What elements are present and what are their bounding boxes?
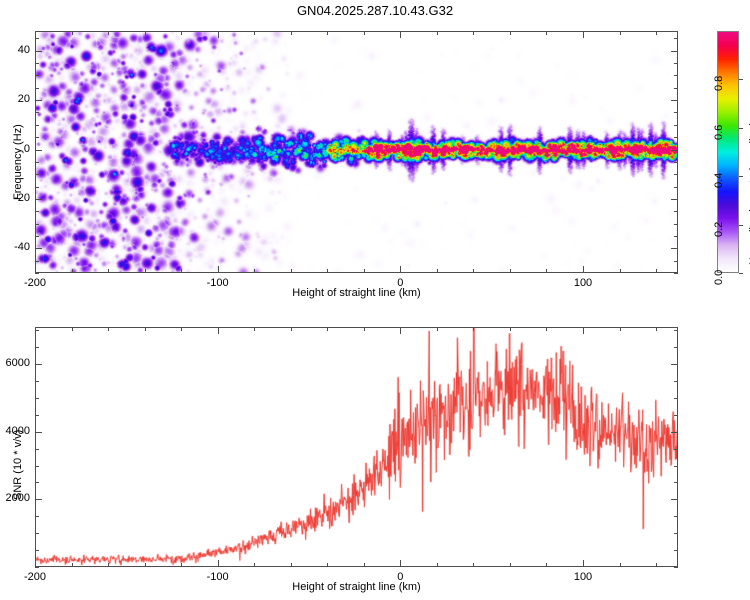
- axis-tick: [35, 162, 39, 163]
- axis-tick-label: 6000: [6, 357, 30, 369]
- axis-tick: [145, 563, 146, 567]
- axis-tick: [674, 466, 678, 467]
- axis-tick: [674, 125, 678, 126]
- axis-tick: [35, 137, 39, 138]
- axis-tick: [656, 327, 657, 331]
- axis-tick: [35, 75, 39, 76]
- axis-tick: [620, 31, 621, 35]
- axis-tick: [108, 563, 109, 567]
- axis-tick: [145, 31, 146, 35]
- axis-tick: [473, 563, 474, 567]
- colorbar-tick: [739, 79, 743, 80]
- axis-tick: [327, 269, 328, 273]
- axis-tick: [656, 31, 657, 35]
- colorbar-tick-label: 0.2: [713, 221, 725, 236]
- figure-root: GN04.2025.287.10.43.G32 -200-10001004020…: [0, 0, 750, 600]
- axis-tick: [674, 224, 678, 225]
- axis-tick: [145, 327, 146, 331]
- axis-tick: [671, 100, 678, 101]
- axis-tick: [674, 330, 678, 331]
- axis-tick: [35, 381, 39, 382]
- axis-tick: [72, 31, 73, 35]
- axis-tick: [364, 327, 365, 331]
- axis-tick: [656, 563, 657, 567]
- snr-panel: [35, 327, 678, 567]
- axis-tick: [583, 266, 584, 273]
- axis-tick: [674, 516, 678, 517]
- axis-tick: [181, 31, 182, 35]
- figure-title: GN04.2025.287.10.43.G32: [0, 3, 750, 18]
- axis-tick: [35, 224, 39, 225]
- axis-tick-label: 40: [18, 44, 30, 56]
- axis-tick: [35, 432, 42, 433]
- snr-ylabel: SNR (10 * v/v): [12, 430, 24, 500]
- axis-tick-label: 0: [24, 143, 30, 155]
- axis-tick: [400, 327, 401, 334]
- axis-tick: [473, 269, 474, 273]
- axis-tick: [72, 327, 73, 331]
- axis-tick: [218, 31, 219, 38]
- axis-tick: [583, 31, 584, 38]
- axis-tick: [35, 236, 39, 237]
- colorbar-tick: [739, 176, 743, 177]
- axis-tick: [35, 150, 42, 151]
- axis-tick: [327, 327, 328, 331]
- axis-tick: [181, 269, 182, 273]
- axis-tick: [291, 563, 292, 567]
- axis-tick: [671, 499, 678, 500]
- axis-tick: [35, 266, 36, 273]
- axis-tick: [35, 364, 42, 365]
- axis-tick: [108, 31, 109, 35]
- axis-tick: [35, 125, 39, 126]
- axis-tick: [254, 31, 255, 35]
- axis-tick: [583, 327, 584, 334]
- axis-tick: [35, 398, 39, 399]
- axis-tick: [674, 449, 678, 450]
- axis-tick: [674, 567, 678, 568]
- axis-tick: [35, 31, 36, 38]
- axis-tick: [674, 63, 678, 64]
- axis-tick: [35, 211, 39, 212]
- colorbar-tick-label: 0.8: [713, 76, 725, 91]
- axis-tick: [35, 415, 39, 416]
- axis-tick: [674, 273, 678, 274]
- axis-tick: [35, 248, 42, 249]
- axis-tick: [291, 327, 292, 331]
- axis-tick: [400, 560, 401, 567]
- axis-tick: [674, 162, 678, 163]
- axis-tick: [72, 269, 73, 273]
- colorbar-tick: [739, 225, 743, 226]
- axis-tick: [674, 261, 678, 262]
- axis-tick: [364, 31, 365, 35]
- axis-tick: [674, 75, 678, 76]
- axis-tick: [620, 563, 621, 567]
- axis-tick: [674, 381, 678, 382]
- axis-tick: [671, 432, 678, 433]
- axis-tick: [546, 327, 547, 331]
- colorbar-tick-label: 0.6: [713, 125, 725, 140]
- axis-tick: [510, 327, 511, 331]
- axis-tick: [254, 563, 255, 567]
- axis-tick: [674, 236, 678, 237]
- axis-tick: [145, 269, 146, 273]
- snr-xlabel: Height of straight line (km): [0, 581, 713, 593]
- axis-tick: [108, 327, 109, 331]
- axis-tick: [35, 100, 42, 101]
- axis-tick: [674, 174, 678, 175]
- axis-tick: [72, 563, 73, 567]
- axis-tick: [35, 51, 42, 52]
- axis-tick: [35, 449, 39, 450]
- axis-tick: [620, 327, 621, 331]
- axis-tick: [620, 269, 621, 273]
- axis-tick: [674, 415, 678, 416]
- axis-tick: [473, 327, 474, 331]
- spectrogram-canvas: [36, 32, 677, 272]
- axis-tick: [181, 563, 182, 567]
- axis-tick: [671, 248, 678, 249]
- axis-tick: [671, 199, 678, 200]
- axis-tick: [671, 150, 678, 151]
- axis-tick: [671, 364, 678, 365]
- axis-tick: [400, 266, 401, 273]
- axis-tick: [674, 112, 678, 113]
- axis-tick: [364, 563, 365, 567]
- axis-tick: [437, 563, 438, 567]
- axis-tick: [327, 563, 328, 567]
- axis-tick: [671, 51, 678, 52]
- axis-tick: [35, 567, 39, 568]
- colorbar-tick-label: 0.4: [713, 173, 725, 188]
- colorbar-tick-label: 0.0: [713, 270, 725, 285]
- axis-tick: [35, 63, 39, 64]
- axis-tick: [291, 269, 292, 273]
- colorbar-tick: [739, 273, 743, 274]
- axis-tick: [35, 347, 39, 348]
- axis-tick: [181, 327, 182, 331]
- axis-tick: [437, 31, 438, 35]
- axis-tick: [674, 347, 678, 348]
- axis-tick: [510, 31, 511, 35]
- axis-tick: [254, 269, 255, 273]
- axis-tick: [674, 38, 678, 39]
- axis-tick: [35, 199, 42, 200]
- axis-tick: [674, 398, 678, 399]
- axis-tick: [291, 31, 292, 35]
- axis-tick: [510, 269, 511, 273]
- axis-tick: [437, 269, 438, 273]
- axis-tick: [35, 38, 39, 39]
- axis-tick: [656, 269, 657, 273]
- axis-tick: [35, 499, 42, 500]
- axis-tick: [35, 482, 39, 483]
- axis-tick: [35, 261, 39, 262]
- axis-tick: [674, 211, 678, 212]
- axis-tick: [473, 31, 474, 35]
- axis-tick: [35, 560, 36, 567]
- axis-tick: [218, 560, 219, 567]
- axis-tick: [35, 330, 39, 331]
- axis-tick: [674, 533, 678, 534]
- axis-tick: [35, 273, 39, 274]
- axis-tick: [254, 327, 255, 331]
- axis-tick: [35, 174, 39, 175]
- axis-tick: [546, 31, 547, 35]
- axis-tick: [218, 266, 219, 273]
- axis-tick: [674, 88, 678, 89]
- axis-tick: [327, 31, 328, 35]
- axis-tick: [364, 269, 365, 273]
- snr-canvas: [36, 328, 677, 566]
- axis-tick: [510, 563, 511, 567]
- axis-tick: [35, 550, 39, 551]
- axis-tick: [583, 560, 584, 567]
- axis-tick: [546, 269, 547, 273]
- axis-tick: [546, 563, 547, 567]
- axis-tick: [400, 31, 401, 38]
- spectrogram-ylabel: Frequency (Hz): [12, 124, 24, 200]
- axis-tick: [35, 466, 39, 467]
- axis-tick: [108, 269, 109, 273]
- axis-tick: [35, 187, 39, 188]
- axis-tick-label: 20: [18, 93, 30, 105]
- spectrogram-panel: [35, 31, 678, 273]
- axis-tick: [437, 327, 438, 331]
- axis-tick: [35, 516, 39, 517]
- axis-tick: [35, 533, 39, 534]
- axis-tick: [674, 550, 678, 551]
- axis-tick: [35, 112, 39, 113]
- axis-tick: [674, 482, 678, 483]
- axis-tick: [218, 327, 219, 334]
- axis-tick: [674, 187, 678, 188]
- spectrogram-xlabel: Height of straight line (km): [0, 287, 713, 299]
- colorbar-tick: [739, 128, 743, 129]
- axis-tick-label: -40: [14, 241, 30, 253]
- axis-tick: [35, 88, 39, 89]
- axis-tick: [674, 137, 678, 138]
